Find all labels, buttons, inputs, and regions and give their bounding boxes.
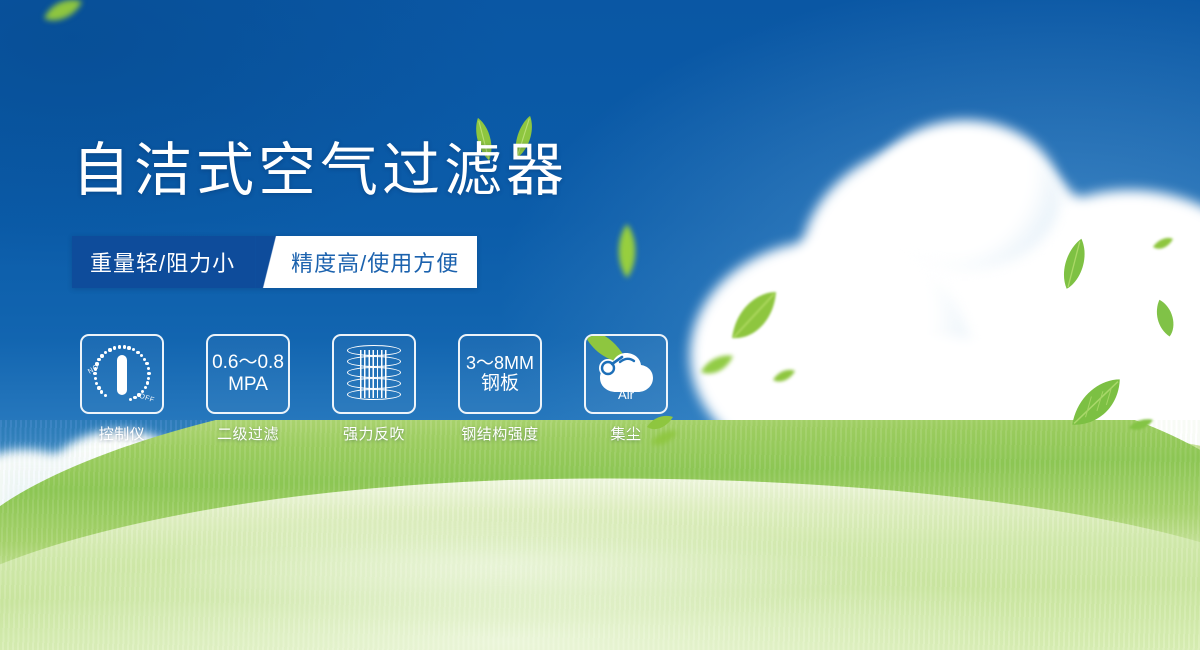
gauge-tick-dot	[108, 348, 111, 351]
gauge-tick-dot	[104, 351, 107, 354]
cartridge-disc	[347, 356, 401, 367]
gauge-tick-dot	[132, 348, 135, 351]
gauge-tick-dot	[145, 362, 148, 365]
gauge-tick-dot	[113, 346, 116, 349]
grass-field	[0, 420, 1200, 650]
gauge-tick-dot	[104, 394, 107, 397]
gauge-tick-dot	[136, 351, 139, 354]
gauge-tick-dot	[146, 381, 149, 384]
leaf-icon-float-8	[1146, 295, 1184, 341]
leaf-icon-float-5	[772, 368, 796, 384]
gauge-tick-dot	[147, 377, 150, 380]
gauge-tick-dot	[129, 398, 132, 401]
leaf-icon-float-6	[1053, 233, 1098, 295]
feature-item-controller[interactable]: NO OFF 控制仪	[80, 334, 164, 444]
gauge-tick-dot	[123, 345, 126, 348]
steel-value-line1: 3～8MM	[466, 353, 534, 374]
feature-label: 二级过滤	[217, 423, 279, 444]
leaf-icon-float-1	[42, 0, 84, 28]
feature-item-steel-strength[interactable]: 3～8MM 钢板 钢结构强度	[458, 334, 542, 444]
product-banner: 自洁式空气过滤器 重量轻/阻力小 精度高/使用方便 NO OFF 控制仪 0.6…	[0, 0, 1200, 650]
leaf-icon-float-7	[1152, 236, 1174, 252]
gauge-tick-dot	[133, 396, 136, 399]
air-label: Air	[596, 387, 656, 402]
subtitle-band: 重量轻/阻力小 精度高/使用方便	[72, 236, 477, 288]
gauge-tick-dot	[147, 372, 150, 375]
feature-icon-box: 3～8MM 钢板	[458, 334, 542, 414]
subtitle-left: 重量轻/阻力小	[72, 236, 255, 288]
steel-value-line2: 钢板	[481, 373, 519, 395]
subtitle-right: 精度高/使用方便	[285, 236, 477, 288]
leaf-icon-float-3	[728, 288, 780, 344]
feature-item-secondary-filter[interactable]: 0.6～0.8 MPA 二级过滤	[206, 334, 290, 444]
leaf-icon-float-4	[700, 352, 734, 378]
gauge-tick-dot	[141, 390, 144, 393]
cartridge-disc	[347, 389, 401, 400]
cartridge-disc	[347, 367, 401, 378]
pressure-value-line1: 0.6～0.8	[212, 352, 284, 374]
air-cloud-icon: Air	[596, 348, 656, 400]
gauge-tick-dot	[94, 377, 97, 380]
page-title: 自洁式空气过滤器	[72, 142, 568, 200]
subtitle-separator	[255, 236, 285, 288]
gauge-icon: NO OFF	[89, 343, 155, 405]
feature-label: 控制仪	[99, 423, 146, 444]
gauge-tick-dot	[147, 367, 150, 370]
feature-label: 强力反吹	[343, 423, 405, 444]
gauge-tick-dot	[100, 354, 103, 357]
feature-list: NO OFF 控制仪 0.6～0.8 MPA 二级过滤	[80, 334, 668, 444]
gauge-tick-dot	[97, 386, 100, 389]
gauge-tick-dot	[144, 386, 147, 389]
leaf-icon-float-2	[612, 222, 642, 280]
gauge-tick-dot	[93, 372, 96, 375]
filter-cartridge-icon	[347, 345, 401, 403]
gauge-needle	[117, 355, 127, 395]
feature-item-backblow[interactable]: 强力反吹	[332, 334, 416, 444]
feature-item-dust-collection[interactable]: Air 集尘	[584, 334, 668, 444]
gauge-tick-dot	[95, 362, 98, 365]
pressure-value-line2: MPA	[228, 374, 268, 396]
gauge-tick-dot	[95, 382, 98, 385]
gauge-tick-dot	[140, 354, 143, 357]
cartridge-disc	[347, 345, 401, 356]
gauge-tick-dot	[127, 346, 130, 349]
cartridge-disc	[347, 378, 401, 389]
feature-label: 钢结构强度	[461, 423, 539, 444]
feature-icon-box: NO OFF	[80, 334, 164, 414]
feature-label: 集尘	[610, 423, 641, 444]
gauge-tick-dot	[137, 393, 140, 396]
feature-icon-box: Air	[584, 334, 668, 414]
gauge-tick-dot	[94, 367, 97, 370]
gauge-tick-dot	[143, 358, 146, 361]
gauge-tick-dot	[100, 390, 103, 393]
gauge-tick-dot	[97, 358, 100, 361]
gauge-tick-dot	[118, 345, 121, 348]
feature-icon-box	[332, 334, 416, 414]
feature-icon-box: 0.6～0.8 MPA	[206, 334, 290, 414]
